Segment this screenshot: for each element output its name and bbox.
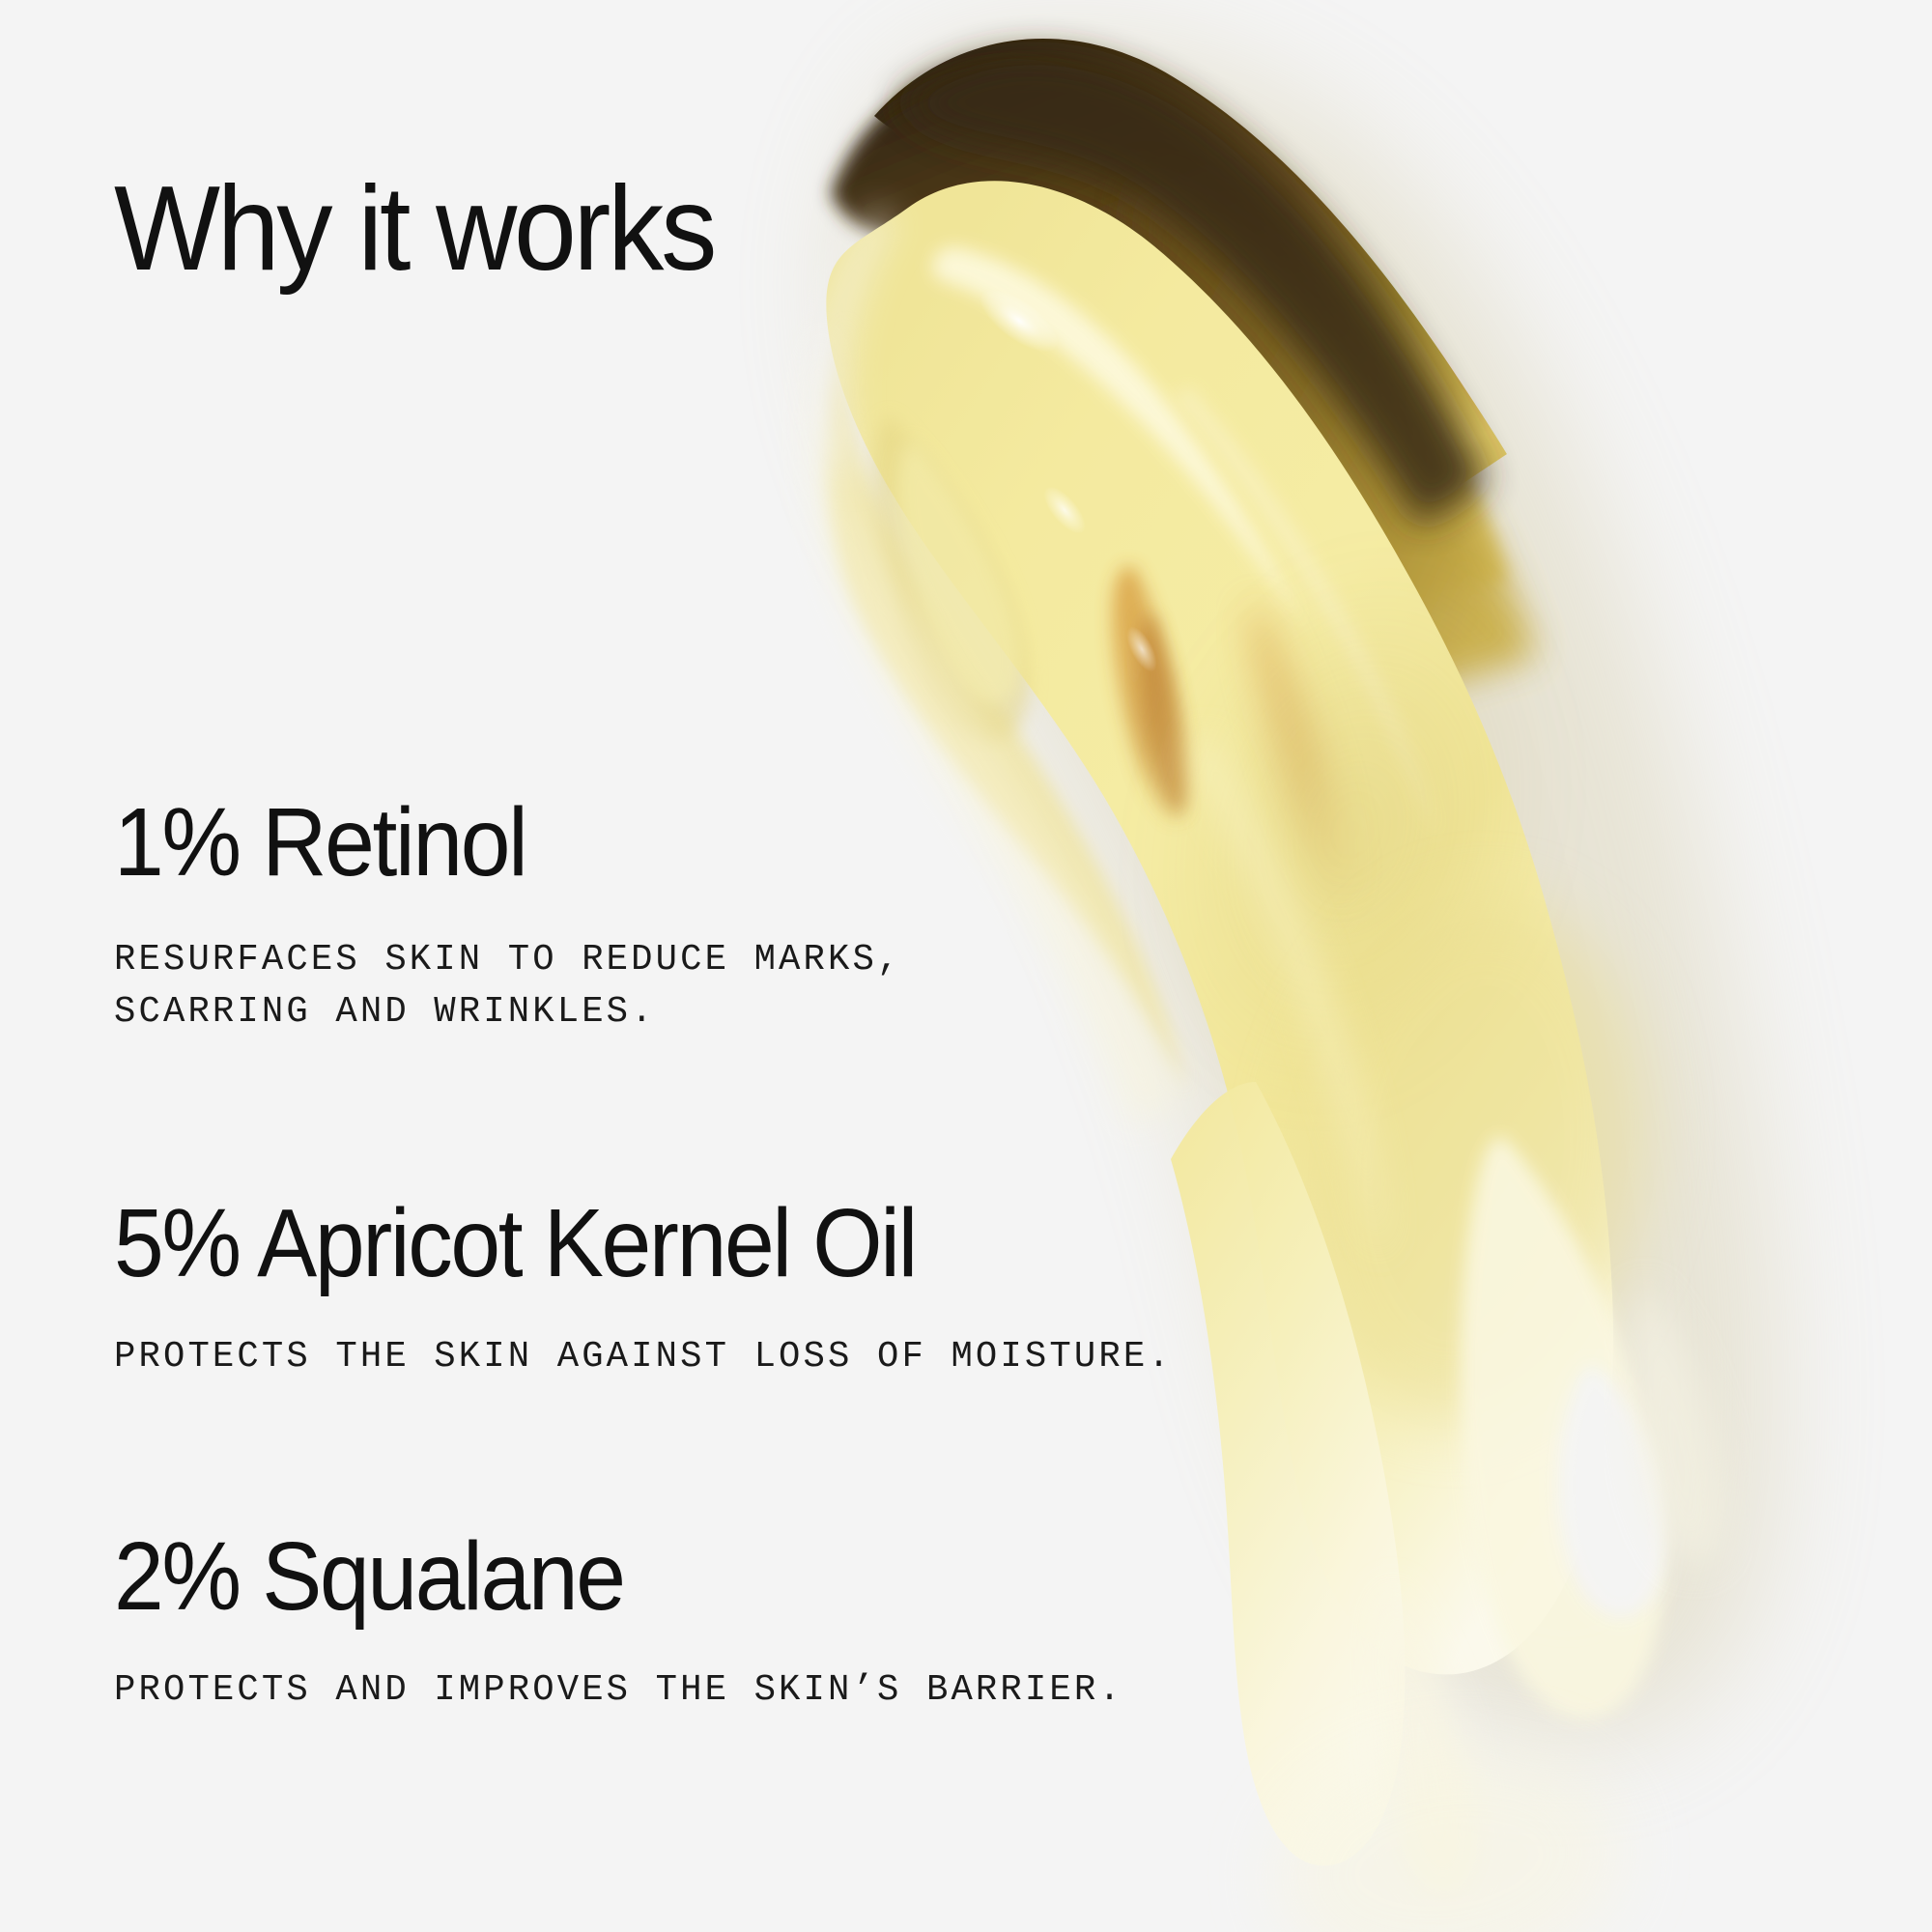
ingredient-description-retinol: RESURFACES SKIN TO REDUCE MARKS, SCARRIN…	[114, 894, 901, 1038]
ingredient-name-apricot-kernel-oil: 5% Apricot Kernel Oil	[114, 1193, 1119, 1294]
ingredient-description-apricot-kernel-oil: PROTECTS THE SKIN AGAINST LOSS OF MOISTU…	[114, 1294, 1173, 1383]
ingredient-block-apricot-kernel-oil: 5% Apricot Kernel Oil PROTECTS THE SKIN …	[114, 1193, 1194, 1383]
page-title: Why it works	[114, 169, 714, 289]
content-layer: Why it works 1% Retinol RESURFACES SKIN …	[0, 0, 1932, 1932]
product-benefits-card: Why it works 1% Retinol RESURFACES SKIN …	[0, 0, 1932, 1932]
ingredient-block-squalane: 2% Squalane PROTECTS AND IMPROVES THE SK…	[114, 1526, 1144, 1717]
ingredient-description-squalane: PROTECTS AND IMPROVES THE SKIN’S BARRIER…	[114, 1628, 1123, 1717]
ingredient-name-squalane: 2% Squalane	[114, 1526, 1072, 1628]
ingredient-name-retinol: 1% Retinol	[114, 792, 862, 894]
ingredient-block-retinol: 1% Retinol RESURFACES SKIN TO REDUCE MAR…	[114, 792, 918, 1038]
